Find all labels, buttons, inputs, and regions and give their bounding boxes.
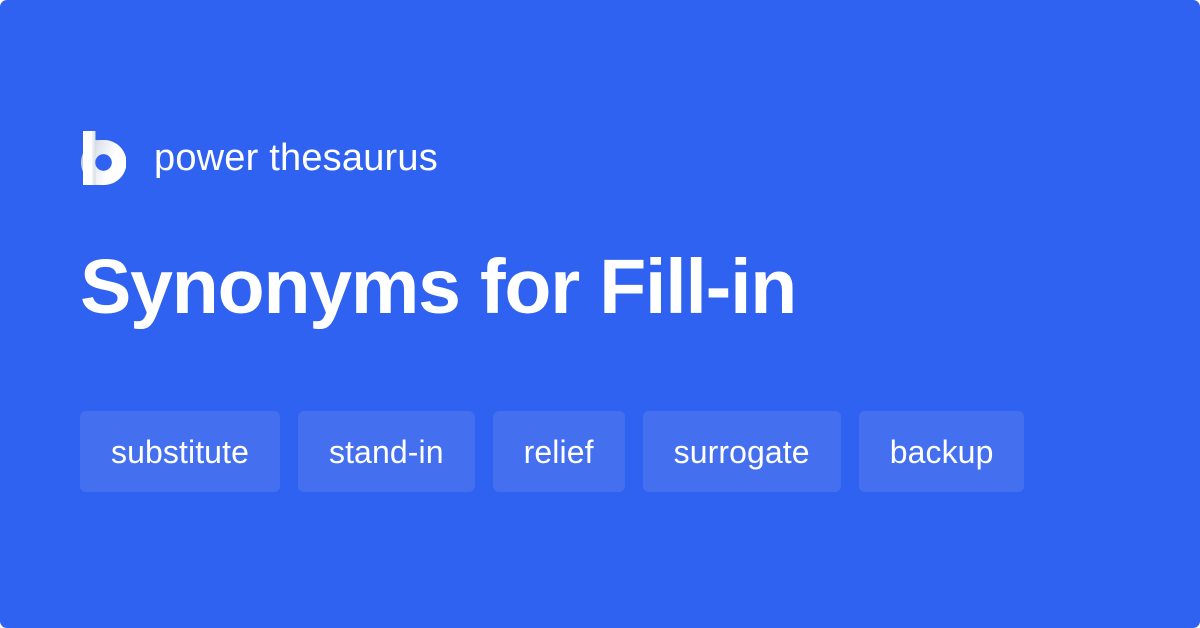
- synonym-tag-list: substitute stand-in relief surrogate bac…: [80, 411, 1024, 492]
- brand-lockup[interactable]: power thesaurus: [80, 128, 438, 188]
- power-thesaurus-b-monogram-icon: [80, 131, 126, 185]
- synonym-tag[interactable]: surrogate: [643, 411, 841, 492]
- synonym-tag[interactable]: stand-in: [298, 411, 475, 492]
- synonym-tag[interactable]: relief: [493, 411, 625, 492]
- brand-name: power thesaurus: [154, 139, 438, 177]
- share-card: power thesaurus Synonyms for Fill-in sub…: [0, 0, 1200, 628]
- synonym-tag[interactable]: substitute: [80, 411, 280, 492]
- synonym-tag[interactable]: backup: [859, 411, 1025, 492]
- page-title: Synonyms for Fill-in: [80, 246, 796, 329]
